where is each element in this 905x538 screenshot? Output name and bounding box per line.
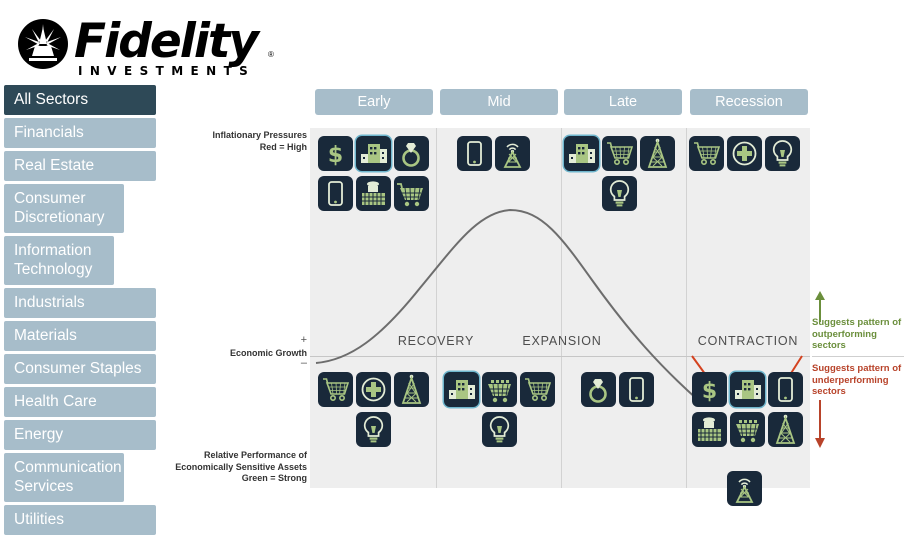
tile-consumer-discretionary-early-top[interactable] [394, 136, 429, 171]
sidebar-item-health-care[interactable]: Health Care [4, 387, 156, 417]
oil-derrick-icon [394, 372, 429, 407]
tile-utilities-early-bottom[interactable] [356, 412, 391, 447]
lightbulb-icon [356, 412, 391, 447]
tile-industrials-early-top[interactable] [356, 176, 391, 211]
tile-materials-recession-bottom[interactable] [730, 412, 765, 447]
diamond-ring-icon [394, 136, 429, 171]
axis-label-inflationary: Inflationary Pressures Red = High [175, 130, 307, 153]
tile-materials-mid-bottom[interactable] [482, 372, 517, 407]
sidebar-item-financials[interactable]: Financials [4, 118, 156, 148]
shopping-cart-icon [318, 372, 353, 407]
smartphone-icon [768, 372, 803, 407]
tile-materials-early-top[interactable] [394, 176, 429, 211]
brand-name: Fidelity [74, 16, 257, 68]
tile-financials-recession-bottom[interactable]: $ [692, 372, 727, 407]
sidebar-item-energy[interactable]: Energy [4, 420, 156, 450]
factory-icon [356, 176, 391, 211]
tile-utilities-late-top[interactable] [602, 176, 637, 211]
tile-communication-services-recession-bottom[interactable] [727, 471, 762, 506]
tab-early[interactable]: Early [315, 89, 433, 115]
tile-energy-early-bottom[interactable] [394, 372, 429, 407]
tile-real-estate-early-top[interactable] [356, 136, 391, 171]
dollar-sign-icon: $ [318, 136, 353, 171]
office-building-icon [564, 136, 599, 171]
tile-health-care-recession-top[interactable] [727, 136, 762, 171]
annotation-underperform: Suggests pattern of underperforming sect… [812, 363, 905, 398]
sidebar-item-communication-services[interactable]: Communication Services [4, 453, 124, 502]
down-arrow-icon [812, 400, 834, 450]
sidebar-item-real-estate[interactable]: Real Estate [4, 151, 156, 181]
svg-text:$: $ [702, 379, 717, 404]
sidebar-item-industrials[interactable]: Industrials [4, 288, 156, 318]
tile-industrials-recession-bottom[interactable] [692, 412, 727, 447]
mining-cart-icon [482, 372, 517, 407]
tab-recession[interactable]: Recession [690, 89, 808, 115]
oil-derrick-icon [768, 412, 803, 447]
sidebar-item-materials[interactable]: Materials [4, 321, 156, 351]
office-building-icon [444, 372, 479, 407]
communication-tower-icon [495, 136, 530, 171]
shopping-cart-icon [689, 136, 724, 171]
medical-cross-icon [727, 136, 762, 171]
tile-communication-services-mid-top[interactable] [495, 136, 530, 171]
lightbulb-icon [602, 176, 637, 211]
tab-mid[interactable]: Mid [440, 89, 558, 115]
shopping-cart-icon [394, 176, 429, 211]
tile-energy-late-top[interactable] [640, 136, 675, 171]
tile-energy-recession-bottom[interactable] [768, 412, 803, 447]
fidelity-logo: Fidelity INVESTMENTS ® [16, 14, 278, 78]
smartphone-icon [619, 372, 654, 407]
inflationary-line1: Inflationary Pressures [212, 130, 307, 140]
annotation-divider [812, 356, 904, 357]
office-building-icon [730, 372, 765, 407]
brand-tagline: INVESTMENTS [78, 64, 255, 78]
tile-real-estate-late-top[interactable] [564, 136, 599, 171]
smartphone-icon [318, 176, 353, 211]
office-building-icon [356, 136, 391, 171]
diamond-ring-icon [581, 372, 616, 407]
phase-header-row: Early Mid Late Recession [310, 89, 820, 115]
tile-consumer-discretionary-late-bottom[interactable] [581, 372, 616, 407]
tile-real-estate-recession-bottom[interactable] [730, 372, 765, 407]
tile-real-estate-mid-bottom[interactable] [444, 372, 479, 407]
medical-cross-icon [356, 372, 391, 407]
sidebar-item-information-technology[interactable]: Information Technology [4, 236, 114, 285]
sidebar-item-consumer-staples[interactable]: Consumer Staples [4, 354, 156, 384]
tile-information-technology-mid-top[interactable] [457, 136, 492, 171]
relperf-line1: Relative Performance of [204, 450, 307, 460]
tile-consumer-staples-late-top[interactable] [602, 136, 637, 171]
smartphone-icon [457, 136, 492, 171]
tile-information-technology-recession-bottom[interactable] [768, 372, 803, 407]
sidebar-item-utilities[interactable]: Utilities [4, 505, 156, 535]
sidebar-item-consumer-discretionary[interactable]: Consumer Discretionary [4, 184, 124, 233]
annotation-outperform: Suggests pattern of outperforming sector… [812, 317, 904, 352]
fidelity-pyramid-icon [16, 18, 70, 70]
oil-derrick-icon [640, 136, 675, 171]
axis-plus-sign: + [270, 334, 307, 346]
tile-health-care-early-bottom[interactable] [356, 372, 391, 407]
sidebar-item-all-sectors[interactable]: All Sectors [4, 85, 156, 115]
tile-consumer-staples-recession-top[interactable] [689, 136, 724, 171]
tile-information-technology-late-bottom[interactable] [619, 372, 654, 407]
tile-utilities-mid-bottom[interactable] [482, 412, 517, 447]
dollar-sign-icon: $ [692, 372, 727, 407]
shopping-cart-icon [520, 372, 555, 407]
axis-minus-sign: – [270, 357, 307, 369]
mining-cart-icon [730, 412, 765, 447]
lightbulb-icon [765, 136, 800, 171]
tab-late[interactable]: Late [564, 89, 682, 115]
factory-icon [692, 412, 727, 447]
shopping-cart-icon [602, 136, 637, 171]
relperf-line3: Green = Strong [242, 473, 307, 483]
tile-consumer-staples-early-bottom[interactable] [318, 372, 353, 407]
tile-utilities-recession-top[interactable] [765, 136, 800, 171]
business-cycle-chart: RECOVERY EXPANSION CONTRACTION $ [310, 128, 810, 488]
lightbulb-icon [482, 412, 517, 447]
axis-label-relative-performance: Relative Performance of Economically Sen… [168, 450, 307, 485]
relperf-line2: Economically Sensitive Assets [175, 462, 307, 472]
communication-tower-icon [727, 471, 762, 506]
tile-information-technology-early-top[interactable] [318, 176, 353, 211]
tile-financials-early-top[interactable]: $ [318, 136, 353, 171]
inflationary-line2: Red = High [260, 142, 307, 152]
registered-mark: ® [268, 50, 274, 59]
svg-text:$: $ [328, 143, 343, 168]
tile-consumer-staples-mid-bottom[interactable] [520, 372, 555, 407]
sector-sidebar: All Sectors Financials Real Estate Consu… [4, 85, 156, 538]
